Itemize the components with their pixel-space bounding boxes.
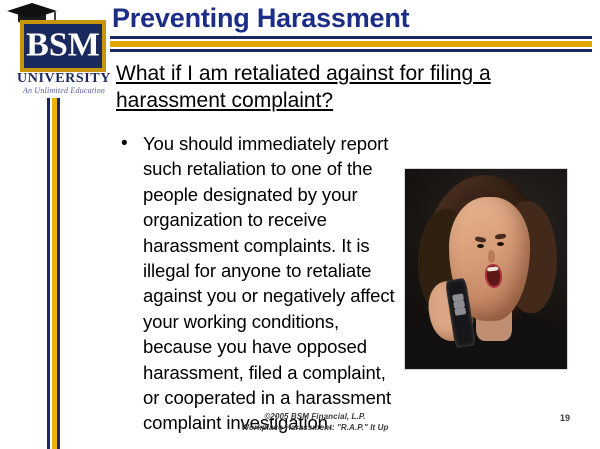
photo-nose [488,250,495,262]
slide-title: Preventing Harassment [112,2,582,34]
bullet-item: • You should immediately report such ret… [117,131,407,436]
bullet-text: You should immediately report such retal… [143,133,395,433]
vertical-accent-stripes [47,98,62,449]
bsm-university-logo: BSM UNIVERSITY An Unlimited Education [6,2,110,104]
footer-credit: ©2005 BSM Financial, L.P. Workplace Hara… [150,411,480,433]
divider-navy-bottom [110,49,592,52]
photo-phone-keypad [452,293,465,302]
footer-copyright: ©2005 BSM Financial, L.P. [150,411,480,422]
bullet-glyph: • [121,131,128,156]
footer-course-title: Workplace Harassment: "R.A.P." It Up [150,422,480,433]
photo-open-mouth [484,263,503,288]
logo-monogram-box: BSM [20,20,106,72]
angry-woman-on-phone-photo [404,168,568,370]
photo-eye-left [477,244,484,248]
question-heading: What if I am retaliated against for fili… [116,60,578,114]
logo-tagline: An Unlimited Education [12,87,116,95]
photo-eyebrow-right [495,233,507,239]
logo-monogram-text: BSM [24,28,102,62]
slide-canvas: BSM UNIVERSITY An Unlimited Education Pr… [0,0,600,449]
photo-teeth [488,266,499,271]
photo-eye-right [497,242,504,246]
stripe-navy-right [57,98,60,449]
title-divider-bar [110,36,592,52]
logo-university-text: UNIVERSITY [14,72,114,86]
photo-eyebrow-left [475,236,486,243]
body-content: • You should immediately report such ret… [117,131,407,436]
page-number: 19 [560,413,584,423]
